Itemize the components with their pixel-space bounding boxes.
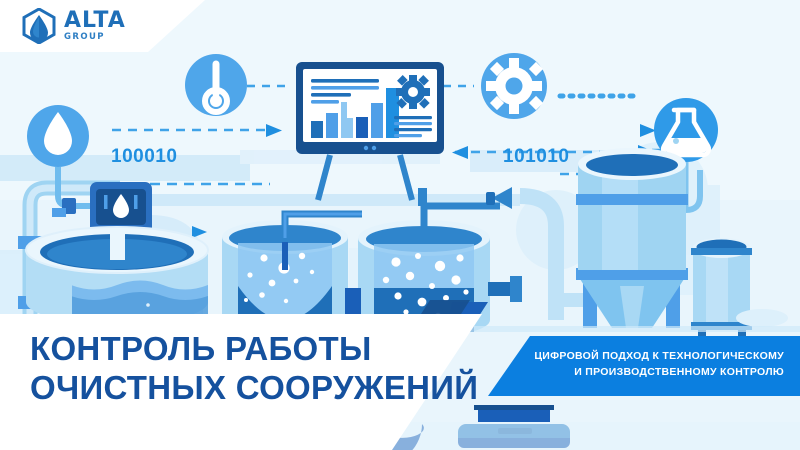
brand-logo-text: ALTA GROUP (64, 10, 126, 42)
dashboard-gear-icon (396, 75, 430, 109)
tagline-banner: ЦИФРОВОЙ ПОДХОД К ТЕХНОЛОГИЧЕСКОМУ И ПРО… (488, 340, 800, 390)
page-title-line-2: ОЧИСТНЫХ СООРУЖЕНИЙ (30, 369, 478, 408)
brand-logo[interactable]: ALTA GROUP (0, 0, 205, 52)
circular-clarifier-tank (26, 227, 208, 328)
tagline-line-2: И ПРОИЗВОДСТВЕННОМУ КОНТРОЛЮ (528, 364, 784, 380)
page-title: КОНТРОЛЬ РАБОТЫ ОЧИСТНЫХ СООРУЖЕНИЙ (30, 330, 478, 407)
brand-name: ALTA (64, 10, 126, 32)
water-drop-icon (27, 105, 89, 167)
poster-canvas: ALTA GROUP 100010 101010 КОНТРОЛЬ РАБОТЫ… (0, 0, 800, 450)
water-drop-hexagon-icon (22, 8, 56, 44)
binary-label-right: 101010 (503, 146, 569, 168)
page-title-line-1: КОНТРОЛЬ РАБОТЫ (30, 330, 478, 369)
gear-icon (481, 53, 547, 119)
brand-subtitle: GROUP (64, 33, 126, 42)
thermometer-icon (185, 54, 247, 116)
binary-label-left: 100010 (111, 146, 177, 168)
tagline-line-1: ЦИФРОВОЙ ПОДХОД К ТЕХНОЛОГИЧЕСКОМУ (528, 348, 784, 364)
